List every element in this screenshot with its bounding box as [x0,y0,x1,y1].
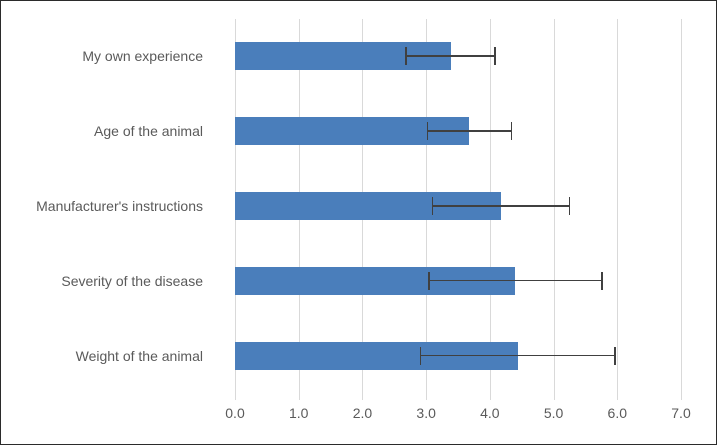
category-label: Weight of the animal [1,348,219,364]
category-axis-labels: My own experienceAge of the animalManufa… [1,19,219,393]
tick-label: 2.0 [332,405,392,421]
tick-mark [362,393,363,400]
error-bar-line [427,130,511,132]
error-bar-line [420,355,614,357]
value-axis: 0.01.02.03.04.05.06.07.0 [1,393,717,445]
error-bar-cap-low [432,197,434,215]
error-bar-cap-high [494,47,496,65]
tick-label: 1.0 [269,405,329,421]
category-label: Age of the animal [1,123,219,139]
tick-label: 3.0 [396,405,456,421]
tick-label: 0.0 [205,405,265,421]
tick-mark [681,393,682,400]
tick-mark [299,393,300,400]
tick-mark [617,393,618,400]
category-label: Severity of the disease [1,273,219,289]
error-bar-cap-low [427,122,429,140]
error-bar-cap-high [569,197,571,215]
error-bar-cap-low [428,272,430,290]
error-bar-line [432,205,569,207]
tick-mark [554,393,555,400]
plot-area [235,19,681,393]
tick-label: 5.0 [524,405,584,421]
error-bar [235,267,681,295]
error-bar-cap-low [405,47,407,65]
error-bar-cap-high [601,272,603,290]
tick-label: 7.0 [651,405,711,421]
error-bar [235,42,681,70]
tick-label: 6.0 [587,405,647,421]
error-bar [235,117,681,145]
error-bar-cap-low [420,347,422,365]
tick-mark [426,393,427,400]
tick-mark [235,393,236,400]
tick-mark [490,393,491,400]
category-label: My own experience [1,48,219,64]
error-bar-line [428,280,601,282]
bar-chart: My own experienceAge of the animalManufa… [0,0,717,445]
error-bar-cap-high [511,122,513,140]
tick-label: 4.0 [460,405,520,421]
category-label: Manufacturer's instructions [1,198,219,214]
gridline [681,19,682,393]
error-bar-line [405,55,494,57]
error-bar-cap-high [614,347,616,365]
error-bar [235,192,681,220]
error-bar [235,342,681,370]
